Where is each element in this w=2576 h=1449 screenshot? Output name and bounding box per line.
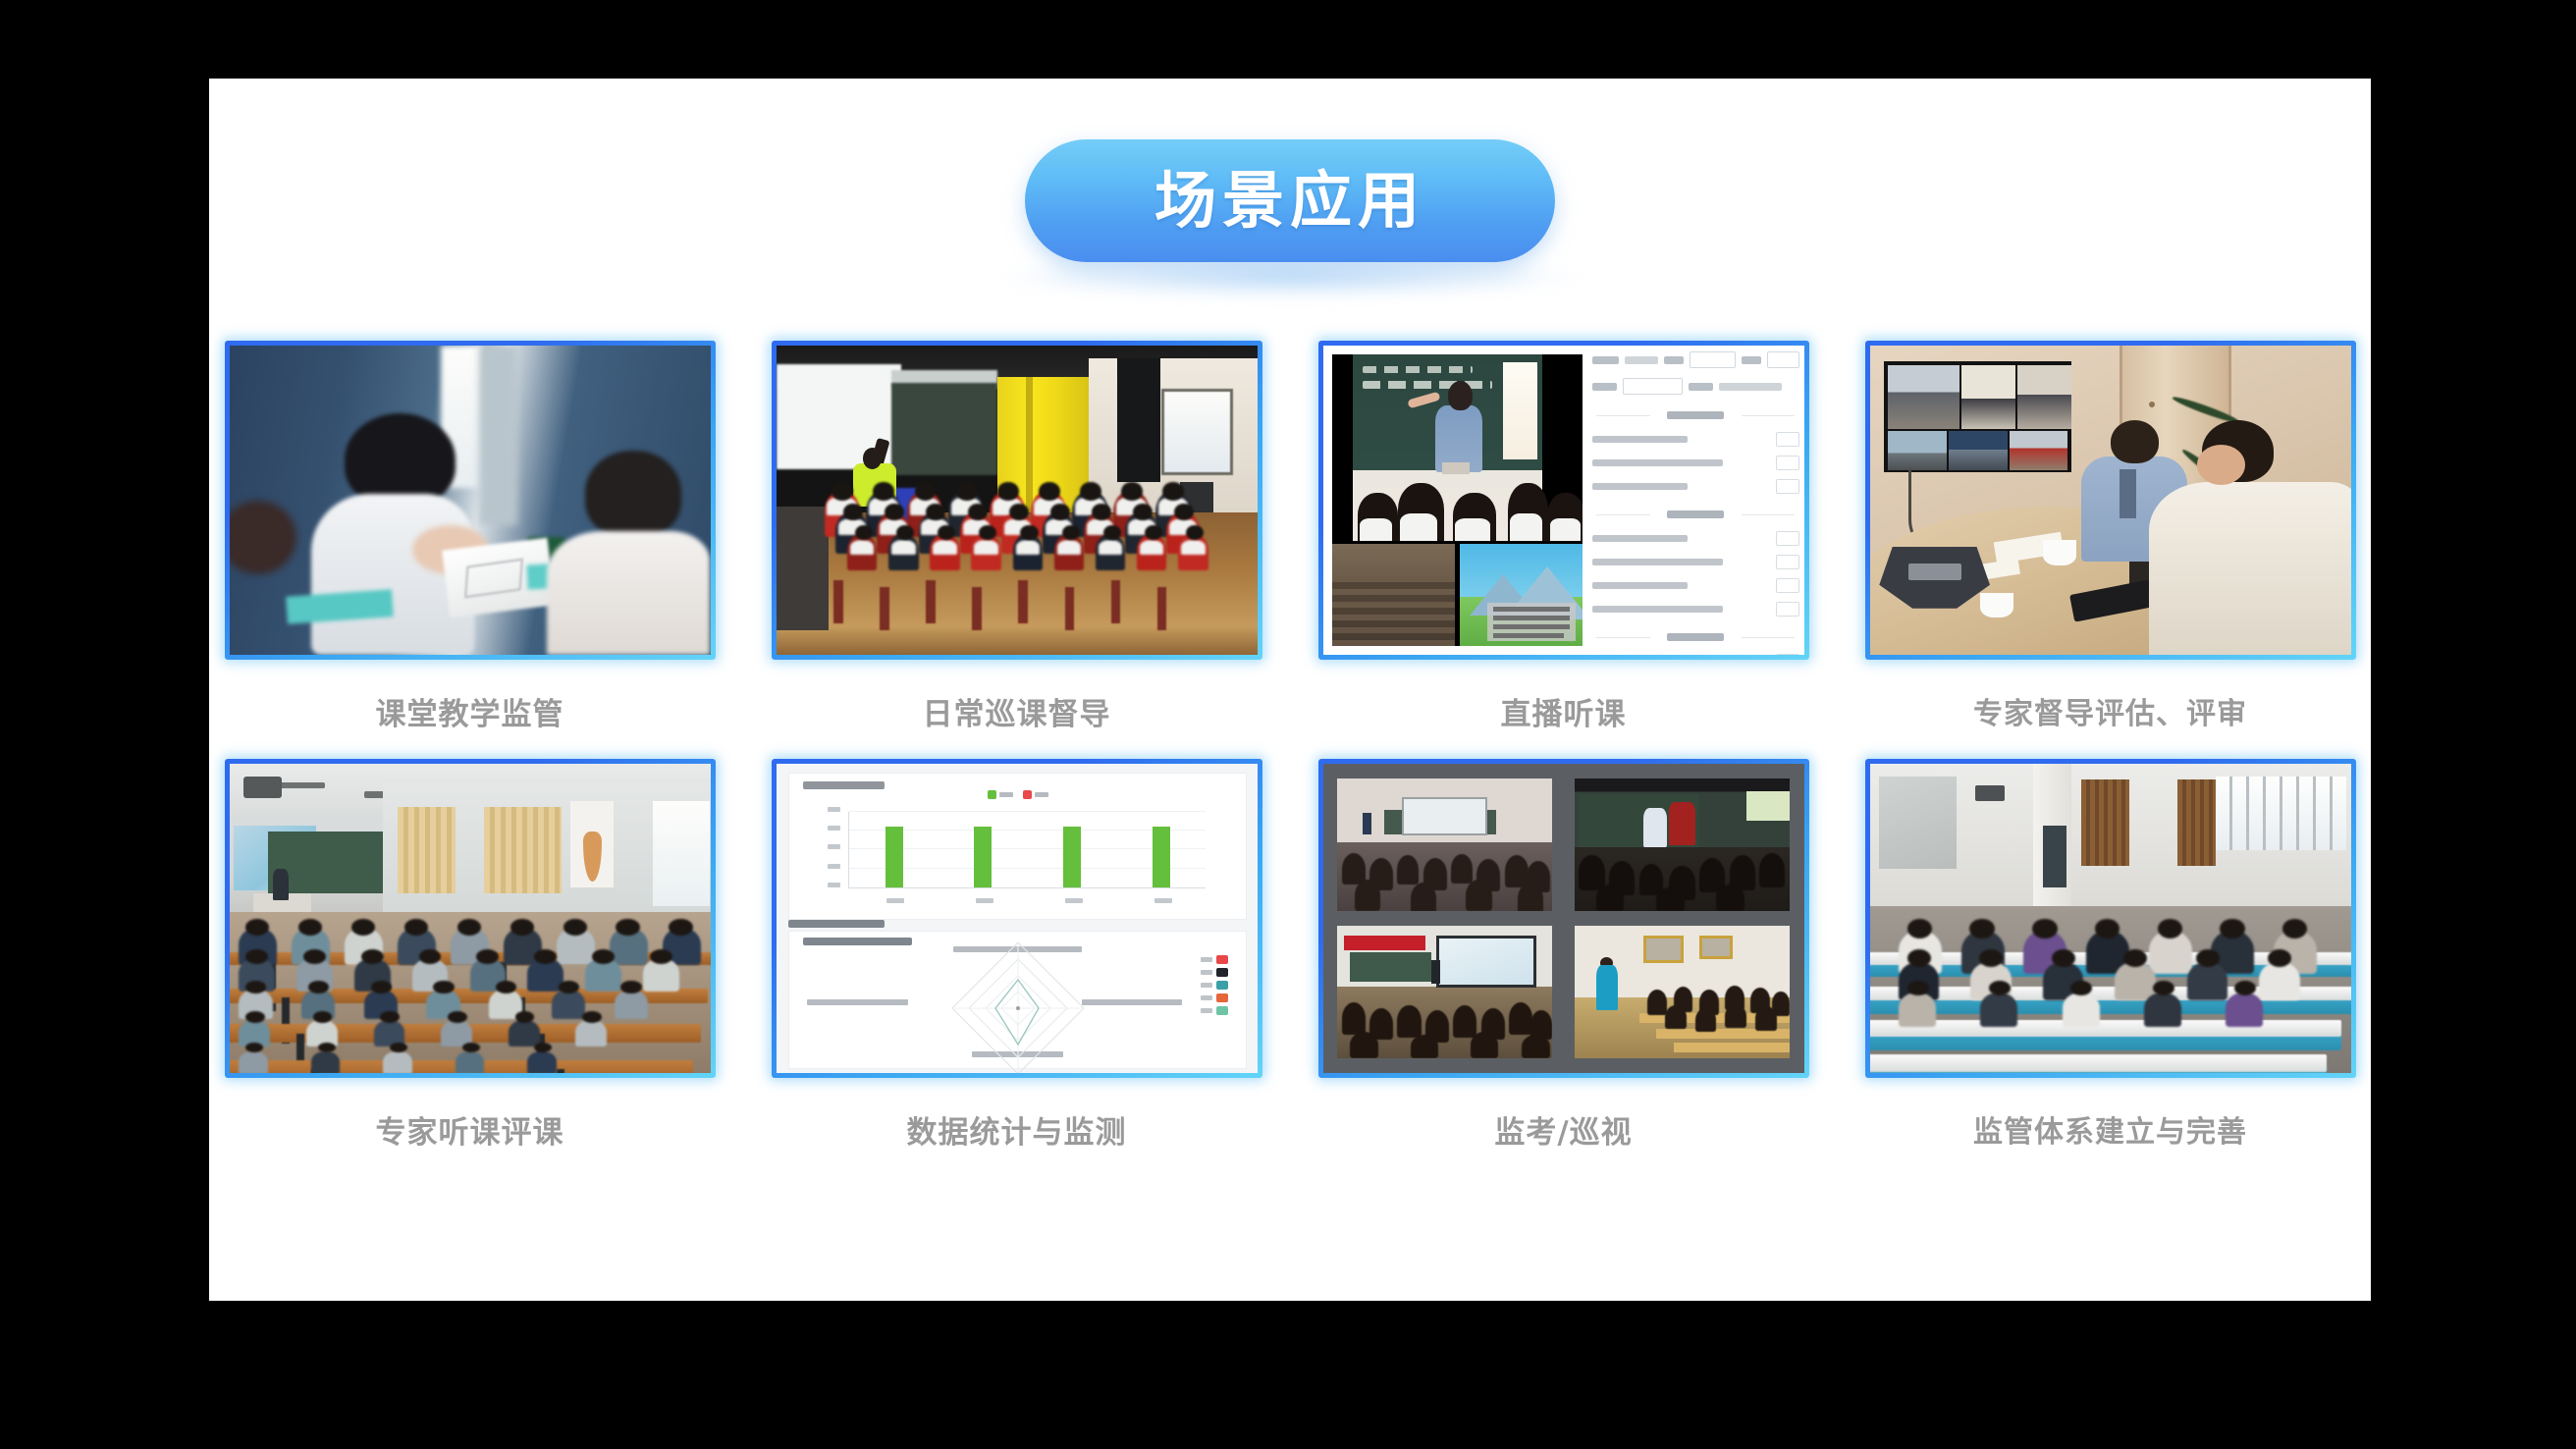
scene-thumbnail-frame[interactable] [225, 341, 716, 660]
scene-caption: 监考/巡视 [1318, 1107, 1809, 1152]
scene-image-live-class-observation [1323, 346, 1804, 655]
courseware-thumbnail [1460, 544, 1583, 646]
bar-chart-card [788, 773, 1248, 920]
scene-card-classroom-teaching-supervision[interactable]: 课堂教学监管 [225, 341, 716, 733]
main-video-feed [1332, 354, 1583, 541]
classroom-thumbnail [1332, 544, 1455, 646]
score-row[interactable] [1592, 479, 1799, 494]
bar-chart-legend [988, 790, 1048, 799]
scene-image-expert-class-evaluation [230, 764, 711, 1073]
score-row[interactable] [1592, 456, 1799, 470]
scene-grid: 课堂教学监管 [172, 341, 2408, 1177]
scene-image-daily-class-inspection [777, 346, 1258, 655]
scene-thumbnail-frame[interactable] [1318, 759, 1809, 1078]
scene-card-live-class-observation[interactable]: 直播听课 [1318, 341, 1809, 733]
scene-card-exam-invigilation-patrol[interactable]: 监考/巡视 [1318, 759, 1809, 1152]
bar-chart-title [803, 781, 885, 789]
scene-caption: 数据统计与监测 [772, 1107, 1262, 1152]
bar-3 [1153, 827, 1170, 887]
score-row[interactable] [1592, 654, 1799, 655]
scene-caption: 专家听课评课 [225, 1107, 716, 1152]
scene-row-2: 专家听课评课 [172, 759, 2408, 1152]
scene-thumbnail-frame[interactable] [1865, 759, 2356, 1078]
scene-thumbnail-frame[interactable] [772, 341, 1262, 660]
score-row[interactable] [1592, 578, 1799, 593]
camera-feed-4[interactable] [1575, 926, 1790, 1059]
scene-image-data-statistics-monitoring [777, 764, 1258, 1073]
scene-thumbnail-frame[interactable] [1865, 341, 2356, 660]
scene-card-supervision-system-building[interactable]: 监管体系建立与完善 [1865, 759, 2356, 1152]
scene-image-expert-supervision-review [1870, 346, 2351, 655]
content-panel: 场景应用 [209, 79, 2371, 1301]
camera-feed-2[interactable] [1575, 778, 1790, 912]
slide-root: 场景应用 [0, 0, 2576, 1449]
scene-card-data-statistics-monitoring[interactable]: 数据统计与监测 [772, 759, 1262, 1152]
scoring-form[interactable] [1592, 351, 1799, 648]
scene-image-exam-invigilation-patrol [1323, 764, 1804, 1073]
scene-image-supervision-system-building [1870, 764, 2351, 1073]
score-row[interactable] [1592, 531, 1799, 546]
scene-row-1: 课堂教学监管 [172, 341, 2408, 733]
camera-feed-1[interactable] [1337, 778, 1552, 912]
title-area: 场景应用 [209, 139, 2371, 262]
scene-image-classroom-teaching-supervision [230, 346, 711, 655]
scene-caption: 监管体系建立与完善 [1865, 1107, 2356, 1151]
bar-1 [974, 827, 992, 887]
scene-caption: 专家督导评估、评审 [1865, 689, 2356, 732]
score-row[interactable] [1592, 602, 1799, 617]
secondary-video-feeds [1332, 544, 1583, 646]
title-pill: 场景应用 [1025, 139, 1555, 262]
bar-0 [885, 827, 903, 887]
score-row[interactable] [1592, 432, 1799, 447]
bar-chart-plot [848, 812, 1206, 888]
scene-thumbnail-frame[interactable] [225, 759, 716, 1078]
scene-caption: 课堂教学监管 [225, 689, 716, 733]
scene-caption: 日常巡课督导 [772, 689, 1262, 733]
radar-chart-title [803, 938, 913, 945]
radar-chart-legend [1201, 955, 1228, 1019]
camera-feed-3[interactable] [1337, 926, 1552, 1059]
video-panel [1332, 354, 1583, 645]
score-row[interactable] [1592, 555, 1799, 569]
scene-card-expert-supervision-review[interactable]: 专家督导评估、评审 [1865, 341, 2356, 733]
scene-caption: 直播听课 [1318, 689, 1809, 733]
camera-wall-grid [1337, 778, 1790, 1059]
radar-chart-plot [944, 935, 1092, 1073]
scene-thumbnail-frame[interactable] [1318, 341, 1809, 660]
scene-card-expert-class-evaluation[interactable]: 专家听课评课 [225, 759, 716, 1152]
page-title: 场景应用 [1154, 170, 1425, 232]
scene-card-daily-class-inspection[interactable]: 日常巡课督导 [772, 341, 1262, 733]
scene-thumbnail-frame[interactable] [772, 759, 1262, 1078]
video-conference-display [1884, 361, 2071, 472]
radar-chart-card [788, 931, 1248, 1069]
bar-2 [1063, 827, 1081, 887]
